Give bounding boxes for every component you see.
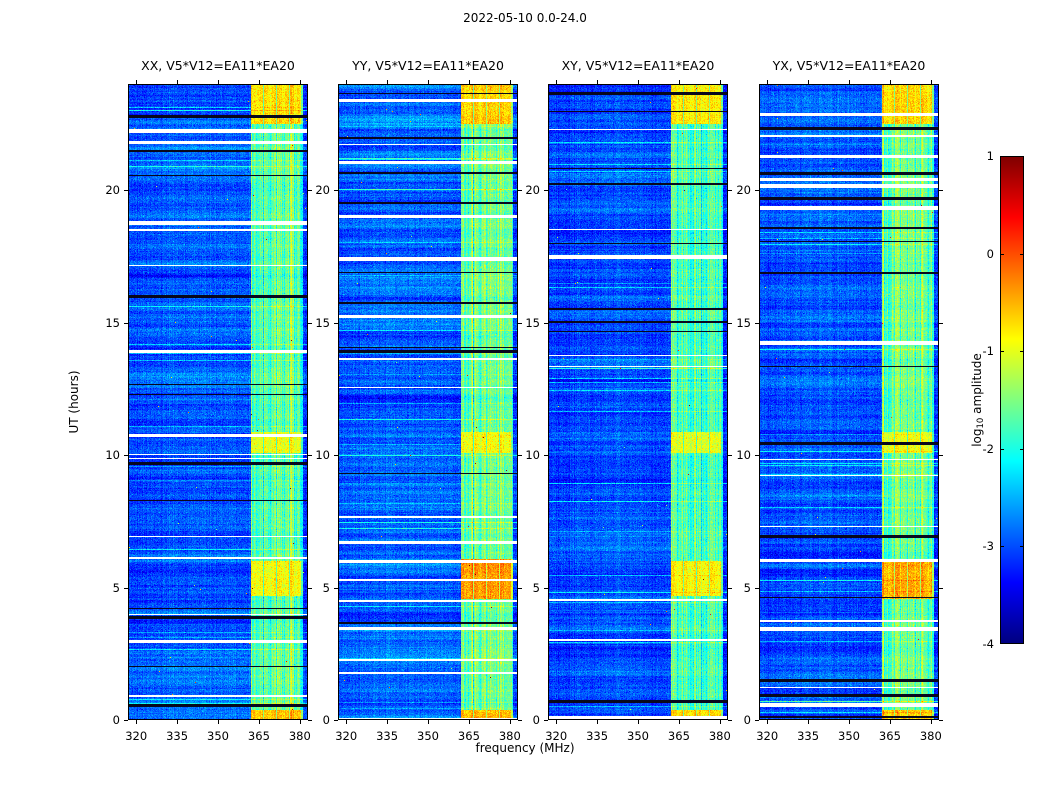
ytick-mark — [544, 720, 548, 721]
ytick-label: 0 — [533, 713, 540, 727]
y-axis-label: UT (hours) — [67, 370, 81, 433]
colorbar-tick-label: -2 — [983, 442, 994, 456]
ytick-label: 5 — [113, 581, 120, 595]
ytick-mark-right — [939, 588, 943, 589]
ytick-label: 10 — [736, 448, 751, 462]
colorbar[interactable]: -4-3-2-101 — [1000, 156, 1024, 644]
colorbar-tick-mark — [1000, 449, 1004, 450]
ytick-labels-xy: 05101520 — [506, 84, 540, 720]
colorbar-label-tail: amplitude — [970, 353, 984, 417]
ytick-label: 0 — [113, 713, 120, 727]
ytick-label: 20 — [105, 183, 120, 197]
ytick-label: 0 — [323, 713, 330, 727]
colorbar-label-main: log — [970, 428, 984, 446]
ytick-labels-xx: 05101520 — [86, 84, 120, 720]
ytick-label: 5 — [323, 581, 330, 595]
ytick-label: 5 — [533, 581, 540, 595]
colorbar-tick-label: 0 — [987, 247, 994, 261]
ytick-labels-yy: 05101520 — [296, 84, 330, 720]
colorbar-tick-mark-right — [1020, 351, 1024, 352]
colorbar-label-sub: 10 — [976, 418, 986, 429]
x-axis-label: frequency (MHz) — [0, 741, 1050, 755]
heatmap-xy — [548, 84, 728, 720]
ytick-label: 20 — [315, 183, 330, 197]
ytick-label: 0 — [744, 713, 751, 727]
ytick-label: 15 — [525, 316, 540, 330]
panel-yx[interactable]: YX, V5*V12=EA11*EA20 320335350365380 051… — [759, 84, 939, 720]
ytick-mark-right — [939, 720, 943, 721]
ytick-label: 20 — [525, 183, 540, 197]
ytick-label: 15 — [736, 316, 751, 330]
panel-xx[interactable]: XX, V5*V12=EA11*EA20 320335350365380 051… — [128, 84, 308, 720]
ytick-label: 5 — [744, 581, 751, 595]
ytick-mark-right — [728, 720, 732, 721]
colorbar-tick-mark — [1000, 546, 1004, 547]
panel-yy[interactable]: YY, V5*V12=EA11*EA20 320335350365380 051… — [338, 84, 518, 720]
ytick-mark — [124, 720, 128, 721]
ytick-mark — [334, 720, 338, 721]
ytick-mark-right — [939, 190, 943, 191]
ytick-mark-right — [939, 323, 943, 324]
panel-xy[interactable]: XY, V5*V12=EA11*EA20 320335350365380 051… — [548, 84, 728, 720]
ytick-mark-right — [308, 720, 312, 721]
colorbar-tick-label: -1 — [983, 344, 994, 358]
ytick-label: 10 — [105, 448, 120, 462]
ytick-label: 15 — [105, 316, 120, 330]
ytick-labels-yx: 05101520 — [717, 84, 751, 720]
figure-suptitle: 2022-05-10 0.0-24.0 — [0, 11, 1050, 25]
panel-title-yx: YX, V5*V12=EA11*EA20 — [719, 58, 979, 73]
ytick-label: 20 — [736, 183, 751, 197]
ytick-label: 15 — [315, 316, 330, 330]
colorbar-tick-mark-right — [1020, 449, 1024, 450]
ytick-mark-right — [518, 720, 522, 721]
ytick-label: 10 — [525, 448, 540, 462]
colorbar-label: log10 amplitude — [970, 353, 984, 447]
figure-canvas: 2022-05-10 0.0-24.0 XX, V5*V12=EA11*EA20… — [0, 0, 1050, 800]
heatmap-yx — [759, 84, 939, 720]
colorbar-gradient — [1000, 156, 1024, 644]
colorbar-tick-label: -4 — [983, 637, 994, 651]
ytick-label: 10 — [315, 448, 330, 462]
ytick-mark — [755, 720, 759, 721]
heatmap-xx — [128, 84, 308, 720]
heatmap-yy — [338, 84, 518, 720]
colorbar-tick-mark — [1000, 351, 1004, 352]
colorbar-tick-label: -3 — [983, 539, 994, 553]
colorbar-tick-label: 1 — [987, 149, 994, 163]
colorbar-tick-mark-right — [1020, 254, 1024, 255]
colorbar-tick-mark-right — [1020, 546, 1024, 547]
ytick-mark-right — [939, 455, 943, 456]
colorbar-tick-mark — [1000, 254, 1004, 255]
